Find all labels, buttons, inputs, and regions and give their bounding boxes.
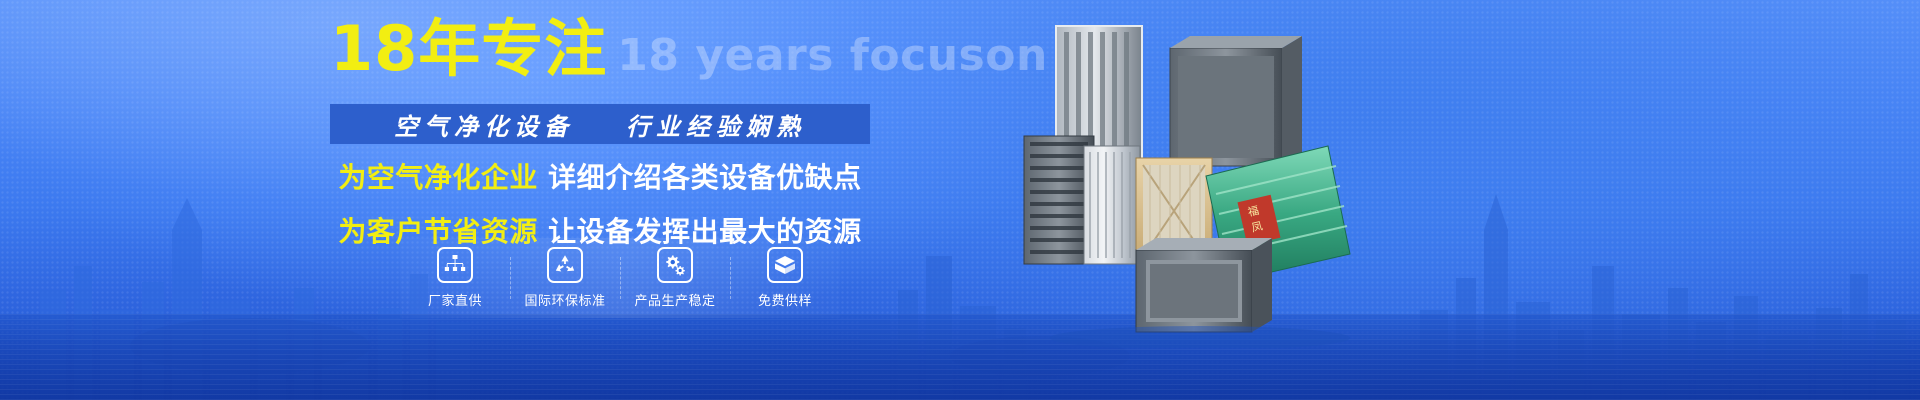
feature-item-factory-direct[interactable]: 厂家直供 xyxy=(400,247,510,309)
org-chart-icon xyxy=(437,247,473,283)
feature-item-eco-standard[interactable]: 国际环保标准 xyxy=(510,247,620,309)
waterfront-reflection xyxy=(0,314,1920,400)
feature-label-stable-production: 产品生产稳定 xyxy=(634,290,715,309)
subline-1-white: 详细介绍各类设备优缺点 xyxy=(548,161,862,194)
city-skyline-graphic xyxy=(0,170,1920,400)
banner-copy: 18年专注 18 years focuson 空气净化设备 行业经验娴熟 为空气… xyxy=(330,18,950,252)
feature-item-free-sample[interactable]: 免费供样 xyxy=(730,247,840,309)
headline-en: 18 years focuson xyxy=(617,34,1048,78)
feature-label-eco-standard: 国际环保标准 xyxy=(524,290,605,309)
slogan-ribbon-item-2: 行业经验娴熟 xyxy=(626,107,806,142)
feature-strip: 厂家直供 国际环保标准 产品生产稳定 xyxy=(400,238,840,318)
feature-item-stable-production[interactable]: 产品生产稳定 xyxy=(620,247,730,309)
subline-1: 为空气净化企业 详细介绍各类设备优缺点 xyxy=(330,158,870,198)
headline: 18年专注 18 years focuson xyxy=(330,18,950,92)
headline-cn: 18年专注 xyxy=(330,18,607,80)
feature-label-factory-direct: 厂家直供 xyxy=(428,290,482,309)
gears-icon xyxy=(657,247,693,283)
slogan-ribbon: 空气净化设备 行业经验娴熟 xyxy=(330,104,870,144)
open-box-icon xyxy=(767,247,803,283)
promo-banner: 18年专注 18 years focuson 空气净化设备 行业经验娴熟 为空气… xyxy=(0,0,1920,400)
feature-label-free-sample: 免费供样 xyxy=(758,290,812,309)
air-filter-products-photo: 福 凤 xyxy=(1010,18,1390,348)
subline-1-highlight: 为空气净化企业 xyxy=(338,161,538,194)
slogan-ribbon-item-1: 空气净化设备 xyxy=(394,107,574,142)
recycle-icon xyxy=(547,247,583,283)
